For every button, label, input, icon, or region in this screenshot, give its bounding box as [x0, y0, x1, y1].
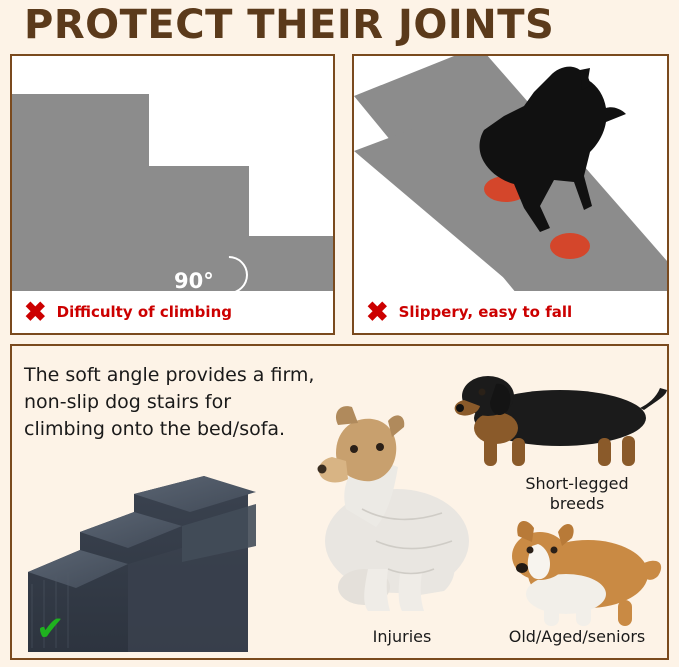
dachshund-photo: [452, 356, 667, 476]
page-title: PROTECT THEIR JOINTS: [24, 2, 664, 48]
caption-text: Slippery, easy to fall: [399, 303, 573, 321]
cross-icon: ✖: [366, 299, 389, 326]
check-icon: ✔: [36, 612, 65, 646]
caption-injuries: Injuries: [322, 627, 482, 647]
caption-short-legged-breeds: Short-legged breeds: [492, 474, 662, 514]
panel-difficulty-climbing: 90° ✖ Difficulty of climbing: [10, 54, 335, 335]
caption-slippery: ✖ Slippery, easy to fall: [354, 291, 667, 333]
corgi-graphic: [492, 516, 669, 628]
caption-difficulty-climbing: ✖ Difficulty of climbing: [12, 291, 333, 333]
stair-step-top: [12, 94, 149, 294]
cross-icon: ✖: [24, 299, 47, 326]
caption-old-aged-seniors: Old/Aged/seniors: [482, 627, 669, 647]
corgi-photo: [492, 516, 669, 628]
angle-label: 90°: [174, 269, 214, 293]
dachshund-graphic: [452, 356, 667, 476]
panel-solution: The soft angle provides a firm, non-slip…: [10, 344, 669, 660]
panel-slippery-fall: ✖ Slippery, easy to fall: [352, 54, 669, 335]
caption-text: Difficulty of climbing: [57, 303, 232, 321]
caption-short-legged-line1: Short-legged breeds: [525, 474, 628, 513]
stair-step-bottom: [249, 236, 333, 294]
solution-line-1: The soft angle provides a firm,: [24, 362, 354, 389]
product-infographic: PROTECT THEIR JOINTS 90° ✖ Difficulty of…: [0, 0, 679, 667]
